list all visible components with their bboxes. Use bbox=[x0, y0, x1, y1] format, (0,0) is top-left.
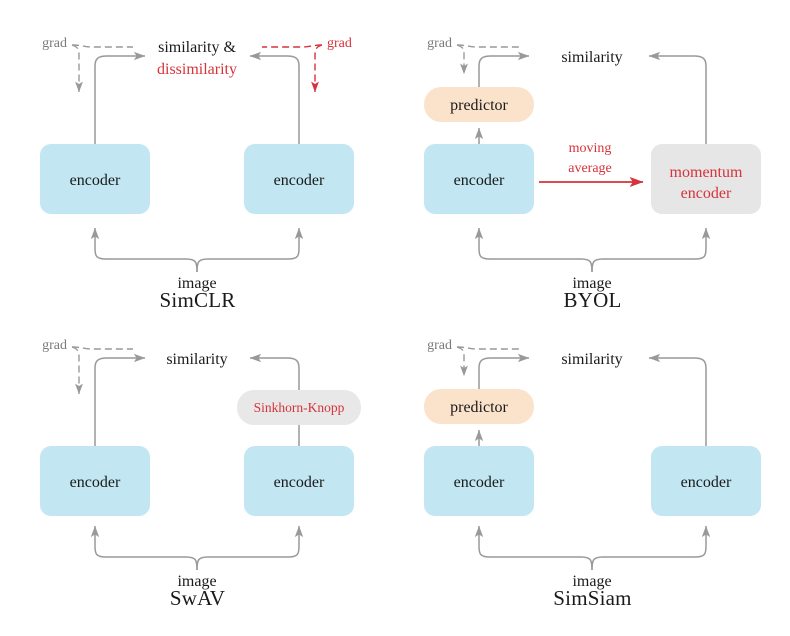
panel-simsiam: encoder encoder predictor grad similarit… bbox=[395, 318, 790, 636]
simsiam-title: SimSiam bbox=[395, 586, 790, 611]
byol-grad-dash-top bbox=[457, 45, 519, 47]
simsiam-grad-label: grad bbox=[427, 338, 452, 353]
byol-grad-arrow bbox=[457, 45, 464, 74]
swav-left-encoder-label: encoder bbox=[70, 474, 121, 491]
simclr-title: SimCLR bbox=[0, 288, 395, 313]
panel-byol: encoder predictor grad similarity moving… bbox=[395, 0, 790, 318]
simsiam-predictor-label: predictor bbox=[450, 399, 508, 416]
byol-predictor-forward-arrow bbox=[479, 56, 529, 87]
image-split-connector bbox=[95, 526, 299, 570]
simclr-left-grad-arrow bbox=[72, 45, 79, 92]
swav-grad-dash-top bbox=[72, 347, 133, 349]
simclr-left-grad-dash-top bbox=[72, 45, 133, 47]
byol-momentum-encoder-line1: momentum bbox=[670, 164, 743, 181]
byol-momentum-forward-arrow bbox=[649, 56, 706, 144]
swav-left-forward-arrow bbox=[95, 358, 145, 446]
byol-grad-label: grad bbox=[427, 36, 452, 51]
simsiam-right-encoder-label: encoder bbox=[681, 474, 732, 491]
swav-sinkhorn-forward-arrow bbox=[250, 358, 299, 390]
simclr-right-grad-dash-top bbox=[262, 45, 322, 47]
simclr-right-forward-arrow bbox=[250, 56, 299, 144]
byol-objective-label: similarity bbox=[561, 49, 622, 66]
simclr-left-encoder-label: encoder bbox=[70, 172, 121, 189]
image-split-connector bbox=[479, 228, 706, 272]
figure-root: encoder encoder grad grad similarity & d… bbox=[0, 0, 790, 636]
panel-simclr: encoder encoder grad grad similarity & d… bbox=[0, 0, 395, 318]
image-split-connector bbox=[95, 228, 299, 272]
simsiam-right-forward-arrow bbox=[649, 358, 706, 446]
simclr-diagram: encoder encoder grad grad similarity & d… bbox=[0, 0, 395, 318]
panel-swav: encoder encoder Sinkhorn-Knopp grad simi… bbox=[0, 318, 395, 636]
byol-predictor-label: predictor bbox=[450, 97, 508, 114]
simsiam-grad-arrow bbox=[457, 347, 464, 376]
byol-moving-average-line1: moving bbox=[569, 141, 612, 156]
simsiam-predictor-forward-arrow bbox=[479, 358, 529, 389]
swav-objective-label: similarity bbox=[166, 351, 227, 368]
byol-moving-average-line2: average bbox=[568, 161, 612, 176]
simclr-right-grad-arrow bbox=[315, 45, 322, 92]
image-split-connector bbox=[479, 526, 706, 570]
swav-grad-arrow bbox=[72, 347, 79, 394]
simsiam-left-encoder-label: encoder bbox=[454, 474, 505, 491]
swav-sinkhorn-label: Sinkhorn-Knopp bbox=[254, 400, 345, 415]
simclr-objective-line1: similarity & bbox=[158, 39, 236, 56]
byol-momentum-encoder-line2: encoder bbox=[681, 185, 732, 202]
swav-right-encoder-label: encoder bbox=[274, 474, 325, 491]
simclr-grad-left-label: grad bbox=[42, 36, 67, 51]
simclr-left-forward-arrow bbox=[95, 56, 145, 144]
byol-diagram: encoder predictor grad similarity moving… bbox=[395, 0, 790, 318]
swav-grad-label: grad bbox=[42, 338, 67, 353]
byol-left-encoder-label: encoder bbox=[454, 172, 505, 189]
swav-title: SwAV bbox=[0, 586, 395, 611]
simclr-objective-line2: dissimilarity bbox=[157, 61, 237, 78]
simclr-right-encoder-label: encoder bbox=[274, 172, 325, 189]
simsiam-grad-dash-top bbox=[457, 347, 519, 349]
byol-title: BYOL bbox=[395, 288, 790, 313]
simsiam-objective-label: similarity bbox=[561, 351, 622, 368]
simclr-grad-right-label: grad bbox=[327, 36, 352, 51]
